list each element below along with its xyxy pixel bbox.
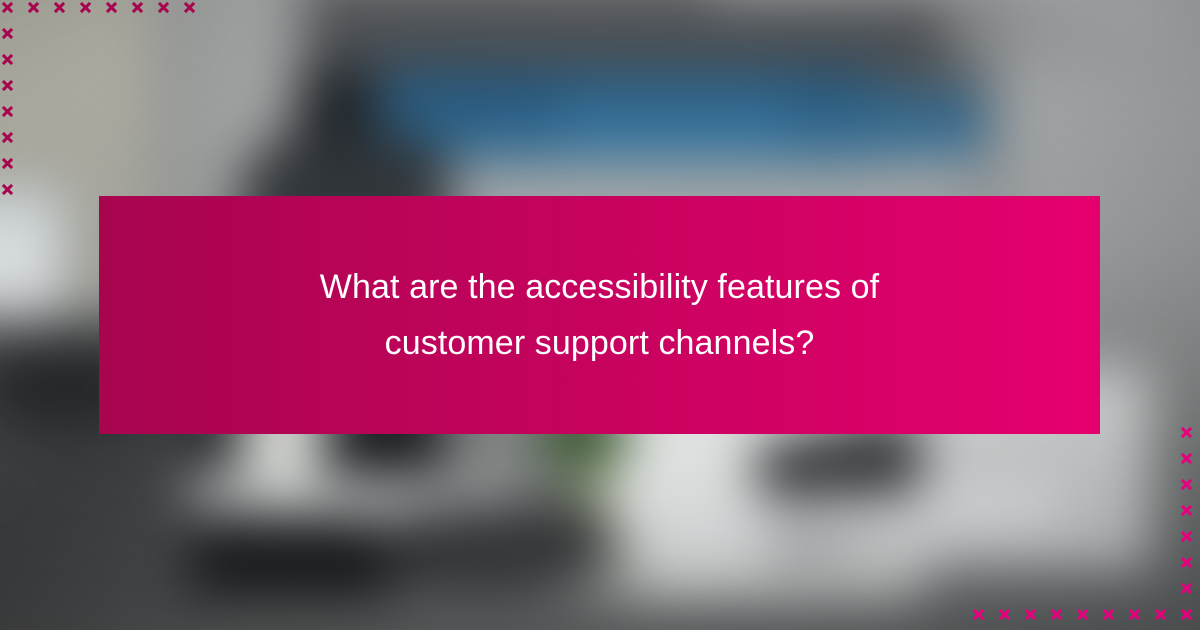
background-monitor-third	[810, 90, 985, 158]
question-title: What are the accessibility features of c…	[280, 259, 920, 371]
background-paper-left	[0, 190, 60, 320]
share-card-canvas: What are the accessibility features of c…	[0, 0, 1200, 630]
background-table-item	[370, 500, 620, 590]
background-monitor-second	[560, 80, 790, 160]
question-banner: What are the accessibility features of c…	[99, 196, 1100, 434]
